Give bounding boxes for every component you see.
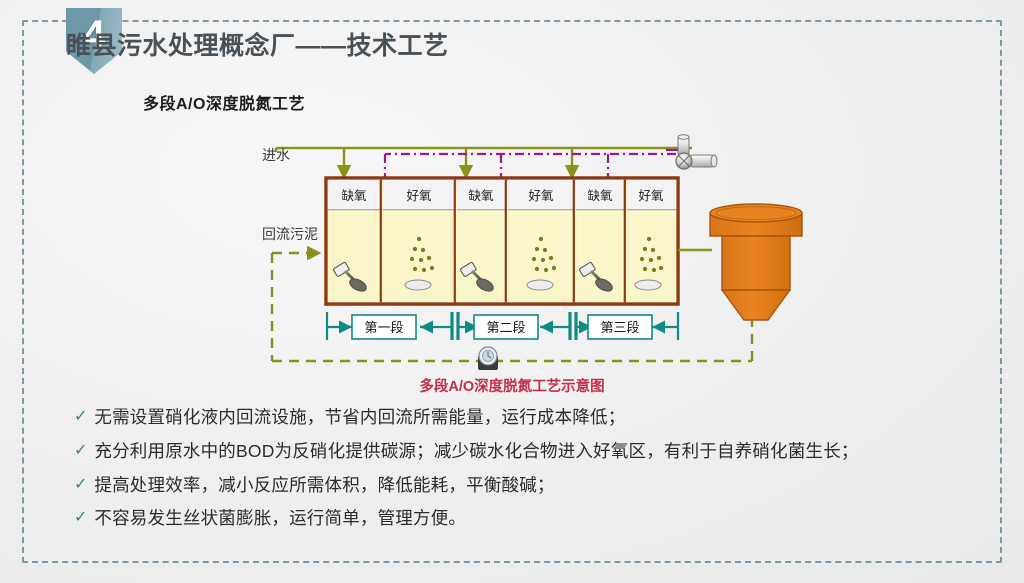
section-heading: 多段A/O深度脱氮工艺 xyxy=(143,90,305,114)
list-item-text: 提高处理效率，减小反应所需体积，降低能耗，平衡酸碱； xyxy=(94,474,554,497)
list-item-text: 充分利用原水中的BOD为反硝化提供碳源；减少碳水化合物进入好氧区，有利于自养硝化… xyxy=(94,440,858,463)
list-item: ✓ 提高处理效率，减小反应所需体积，降低能耗，平衡酸碱； xyxy=(74,474,1004,497)
list-item-text: 不容易发生丝状菌膨胀，运行简单，管理方便。 xyxy=(94,507,466,530)
check-icon: ✓ xyxy=(74,440,87,462)
slide-canvas: 4 睢县污水处理概念厂——技术工艺 多段A/O深度脱氮工艺 xyxy=(0,0,1024,583)
list-item: ✓ 无需设置硝化液内回流设施，节省内回流所需能量，运行成本降低； xyxy=(74,406,1004,429)
check-icon: ✓ xyxy=(74,406,87,428)
check-icon: ✓ xyxy=(74,474,87,496)
page-title: 睢县污水处理概念厂——技术工艺 xyxy=(66,26,449,62)
check-icon: ✓ xyxy=(74,507,87,529)
list-item: ✓ 充分利用原水中的BOD为反硝化提供碳源；减少碳水化合物进入好氧区，有利于自养… xyxy=(74,440,1004,463)
list-item-text: 无需设置硝化液内回流设施，节省内回流所需能量，运行成本降低； xyxy=(94,406,625,429)
benefits-list: ✓ 无需设置硝化液内回流设施，节省内回流所需能量，运行成本降低； ✓ 充分利用原… xyxy=(74,406,1004,541)
list-item: ✓ 不容易发生丝状菌膨胀，运行简单，管理方便。 xyxy=(74,507,1004,530)
